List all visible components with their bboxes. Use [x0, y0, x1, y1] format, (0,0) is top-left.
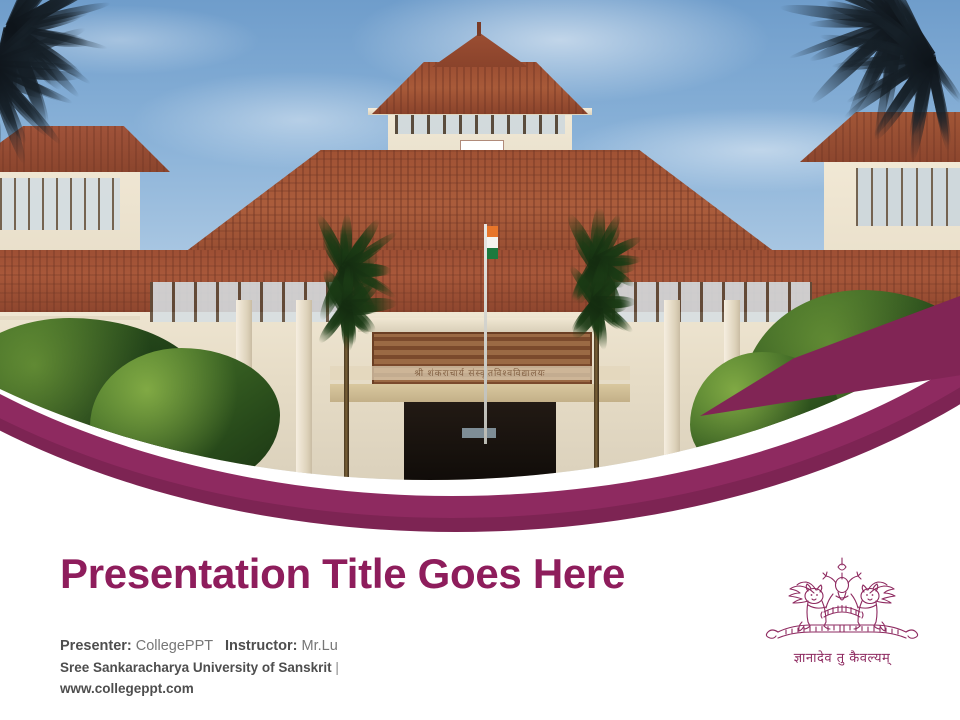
presenter-label: Presenter:: [60, 638, 132, 654]
presenter-value: CollegePPT: [136, 638, 213, 654]
palm-silhouette-top-right: [0, 0, 960, 500]
meta-line-presenter: Presenter: CollegePPT Instructor: Mr.Lu: [60, 636, 339, 657]
emblem-central-figure: [823, 572, 861, 608]
organization-name: Sree Sankaracharya University of Sanskri…: [60, 660, 332, 675]
emblem-banner-ribbon: [766, 625, 917, 638]
hero-photo: श्री शंकराचार्य संस्कृतविश्वविद्यालयः: [0, 0, 960, 500]
presentation-meta: Presenter: CollegePPT Instructor: Mr.Lu …: [60, 636, 339, 699]
meta-line-organization: Sree Sankaracharya University of Sanskri…: [60, 657, 339, 678]
university-emblem: ज्ञानादेव तु कैवल्यम्: [752, 552, 932, 680]
page-title: Presentation Title Goes Here: [60, 550, 625, 598]
emblem-motto: ज्ञानादेव तु कैवल्यम्: [752, 648, 932, 666]
emblem-winged-lion-right: [854, 582, 895, 631]
emblem-central-spire: [838, 558, 846, 579]
emblem-artwork: [752, 552, 932, 652]
presentation-slide: श्री शंकराचार्य संस्कृतविश्वविद्यालयः Pr…: [0, 0, 960, 720]
meta-line-website: www.collegeppt.com: [60, 678, 339, 699]
meta-separator: |: [335, 660, 339, 675]
emblem-winged-lion-left: [789, 582, 830, 631]
emblem-arch-scroll: [821, 606, 863, 619]
instructor-label: Instructor:: [225, 638, 298, 654]
instructor-value: Mr.Lu: [302, 638, 338, 654]
website-url[interactable]: www.collegeppt.com: [60, 681, 194, 696]
